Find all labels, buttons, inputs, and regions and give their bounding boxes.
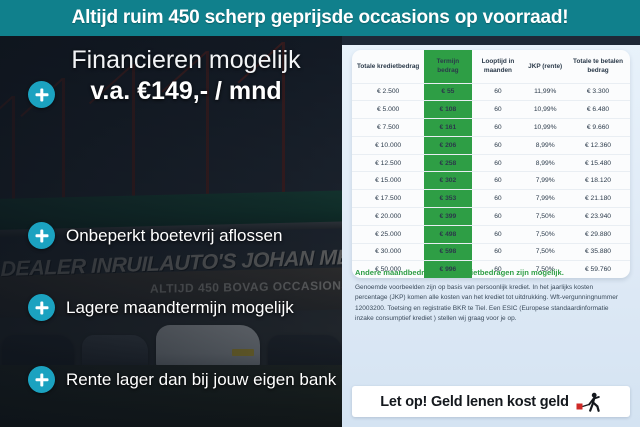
cell-total-payable: € 35.880 (566, 243, 630, 261)
cell-total-payable: € 18.120 (566, 172, 630, 190)
walking-person-dragging-block-icon (576, 392, 602, 412)
cell-total-credit: € 5.000 (352, 101, 424, 119)
cell-monthly-amount: € 55 (424, 83, 471, 101)
financing-promo-banner: Altijd ruim 450 scherp geprijsde occasio… (0, 0, 640, 427)
cell-duration: 60 (472, 101, 525, 119)
cell-duration: 60 (472, 119, 525, 137)
table-row: € 17.500€ 353607,99%€ 21.180 (352, 190, 630, 208)
bullet-label: Lagere maandtermijn mogelijk (66, 298, 294, 318)
cell-duration: 60 (472, 243, 525, 261)
cell-duration: 60 (472, 136, 525, 154)
headline-text: Altijd ruim 450 scherp geprijsde occasio… (72, 7, 569, 29)
cell-total-credit: € 2.500 (352, 83, 424, 101)
cell-duration: 60 (472, 154, 525, 172)
cell-total-payable: € 3.300 (566, 83, 630, 101)
cell-total-payable: € 9.660 (566, 119, 630, 137)
cell-apr: 10,99% (524, 101, 566, 119)
plus-icon (28, 366, 55, 393)
plus-icon (28, 81, 55, 108)
cell-total-payable: € 23.940 (566, 208, 630, 226)
cell-monthly-amount: € 108 (424, 101, 471, 119)
bullet-item-0: Onbeperkt boetevrij aflossen (28, 222, 282, 249)
table-row: € 2.500€ 556011,99%€ 3.300 (352, 83, 630, 101)
cell-apr: 7,99% (524, 172, 566, 190)
table-row: € 15.000€ 302607,99%€ 18.120 (352, 172, 630, 190)
panel-top-strip (342, 36, 640, 45)
cell-apr: 8,99% (524, 154, 566, 172)
disclaimer-block: Andere maandbedragen en kredietbedragen … (355, 268, 627, 325)
rates-table-body: € 2.500€ 556011,99%€ 3.300€ 5.000€ 10860… (352, 83, 630, 278)
cell-total-credit: € 30.000 (352, 243, 424, 261)
table-header-row: Totale kredietbedrag Termijn bedrag Loop… (352, 50, 630, 83)
table-row: € 5.000€ 1086010,99%€ 6.480 (352, 101, 630, 119)
cell-total-credit: € 15.000 (352, 172, 424, 190)
table-row: € 20.000€ 399607,50%€ 23.940 (352, 208, 630, 226)
disclaimer-title: Andere maandbedragen en kredietbedragen … (355, 268, 627, 278)
table-row: € 25.000€ 498607,50%€ 29.880 (352, 225, 630, 243)
disclaimer-body: Genoemde voorbeelden zijn op basis van p… (355, 283, 627, 325)
table-row: € 12.500€ 258608,99%€ 15.480 (352, 154, 630, 172)
plus-icon (28, 294, 55, 321)
cell-total-credit: € 17.500 (352, 190, 424, 208)
cell-duration: 60 (472, 83, 525, 101)
table-row: € 30.000€ 598607,50%€ 35.880 (352, 243, 630, 261)
column-header-duration: Looptijd in maanden (472, 50, 525, 83)
cell-total-payable: € 12.360 (566, 136, 630, 154)
rates-panel: Totale kredietbedrag Termijn bedrag Loop… (342, 36, 640, 427)
cell-monthly-amount: € 498 (424, 225, 471, 243)
cell-monthly-amount: € 258 (424, 154, 471, 172)
cell-monthly-amount: € 598 (424, 243, 471, 261)
credit-warning-text: Let op! Geld lenen kost geld (380, 394, 569, 410)
cell-total-credit: € 10.000 (352, 136, 424, 154)
loan-rates-table: Totale kredietbedrag Termijn bedrag Loop… (352, 50, 630, 278)
cell-apr: 8,99% (524, 136, 566, 154)
cell-total-credit: € 7.500 (352, 119, 424, 137)
cell-total-payable: € 15.480 (566, 154, 630, 172)
table-row: € 7.500€ 1616010,99%€ 9.660 (352, 119, 630, 137)
bullet-item-1: Lagere maandtermijn mogelijk (28, 294, 294, 321)
promo-title-line1: Financieren mogelijk (36, 46, 336, 74)
cell-apr: 7,50% (524, 225, 566, 243)
cell-duration: 60 (472, 190, 525, 208)
cell-monthly-amount: € 399 (424, 208, 471, 226)
cell-total-credit: € 20.000 (352, 208, 424, 226)
cell-duration: 60 (472, 208, 525, 226)
cell-duration: 60 (472, 225, 525, 243)
cell-monthly-amount: € 206 (424, 136, 471, 154)
cell-duration: 60 (472, 172, 525, 190)
column-header-apr: JKP (rente) (524, 50, 566, 83)
cell-apr: 7,50% (524, 243, 566, 261)
promo-feature-column: Financieren mogelijk v.a. €149,- / mnd O… (0, 36, 348, 427)
cell-apr: 7,99% (524, 190, 566, 208)
bullet-item-2: Rente lager dan bij jouw eigen bank (28, 366, 336, 393)
rates-table-card: Totale kredietbedrag Termijn bedrag Loop… (352, 50, 630, 278)
cell-apr: 7,50% (524, 208, 566, 226)
cell-apr: 10,99% (524, 119, 566, 137)
cell-monthly-amount: € 161 (424, 119, 471, 137)
promo-title: Financieren mogelijk v.a. €149,- / mnd (36, 46, 336, 105)
column-header-total-credit: Totale kredietbedrag (352, 50, 424, 83)
column-header-total-payable: Totale te betalen bedrag (566, 50, 630, 83)
cell-monthly-amount: € 302 (424, 172, 471, 190)
cell-total-payable: € 21.180 (566, 190, 630, 208)
credit-warning-bar: Let op! Geld lenen kost geld (352, 386, 630, 417)
promo-title-line2: v.a. €149,- / mnd (36, 77, 336, 105)
headline-bar: Altijd ruim 450 scherp geprijsde occasio… (0, 0, 640, 36)
plus-icon (28, 222, 55, 249)
cell-total-payable: € 29.880 (566, 225, 630, 243)
bullet-label: Rente lager dan bij jouw eigen bank (66, 370, 336, 390)
cell-apr: 11,99% (524, 83, 566, 101)
bullet-item-financing (28, 81, 55, 108)
cell-total-payable: € 6.480 (566, 101, 630, 119)
column-header-monthly-amount: Termijn bedrag (424, 50, 471, 83)
bullet-label: Onbeperkt boetevrij aflossen (66, 226, 282, 246)
cell-total-credit: € 12.500 (352, 154, 424, 172)
table-row: € 10.000€ 206608,99%€ 12.360 (352, 136, 630, 154)
cell-monthly-amount: € 353 (424, 190, 471, 208)
cell-total-credit: € 25.000 (352, 225, 424, 243)
